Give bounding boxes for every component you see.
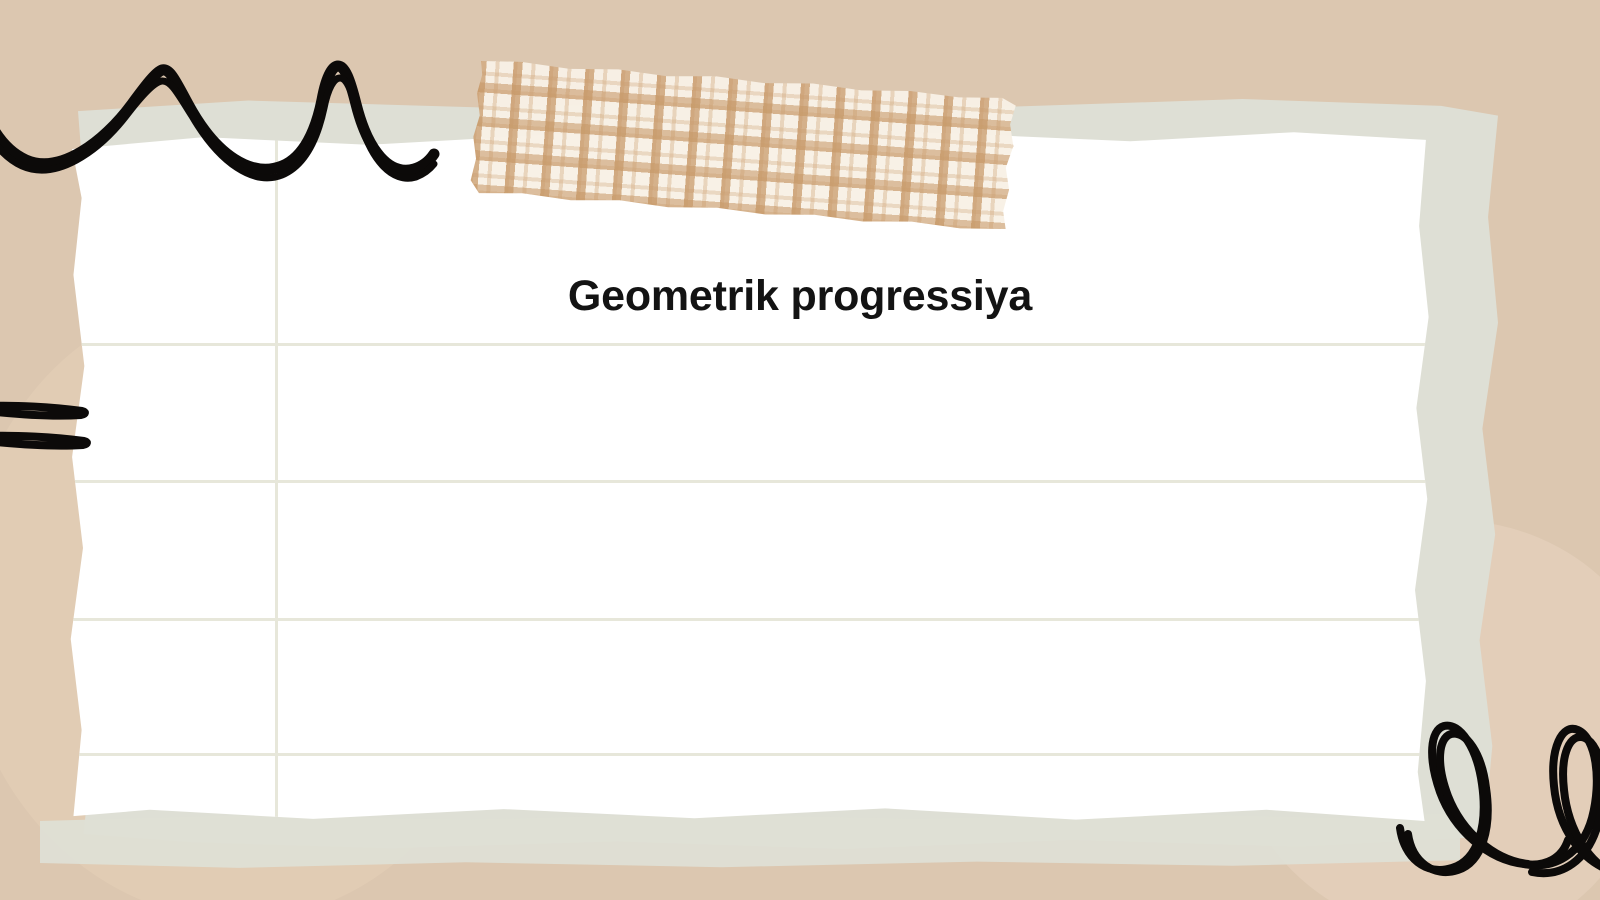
rule-line-4 [68, 753, 1430, 756]
notebook-page [68, 128, 1430, 828]
rule-line-1 [68, 343, 1430, 346]
rule-line-2 [68, 480, 1430, 483]
rule-line-3 [68, 618, 1430, 621]
slide-canvas: Geometrik progressiya [0, 0, 1600, 900]
page-title: Geometrik progressiya [0, 272, 1600, 321]
margin-rule-vertical [275, 128, 278, 828]
